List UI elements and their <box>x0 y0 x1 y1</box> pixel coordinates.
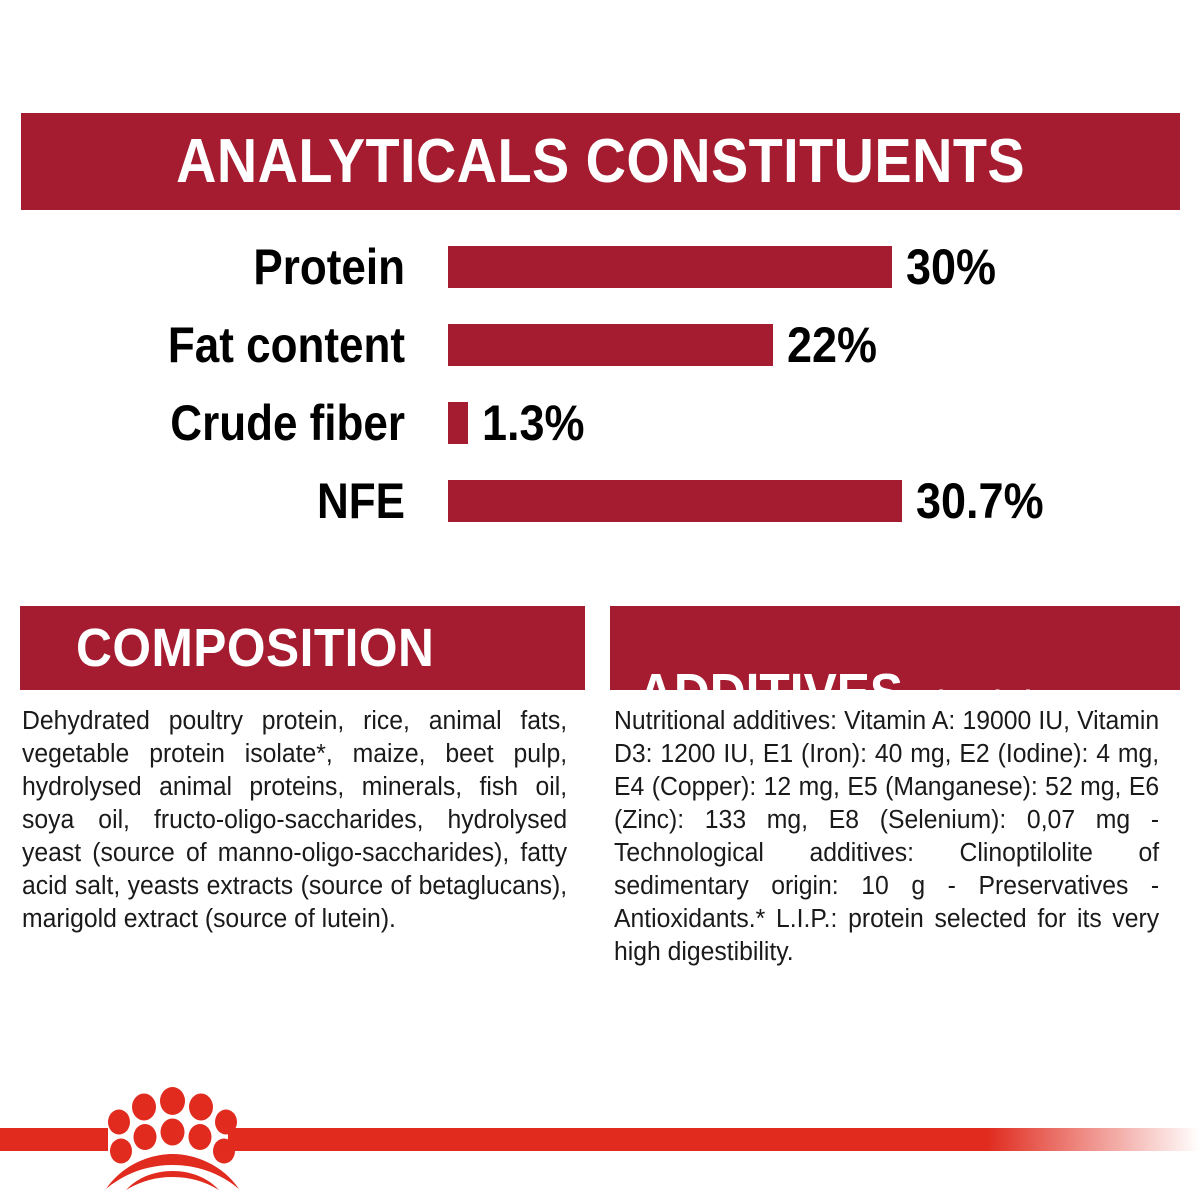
bar-row-fat-content: Fat content 22% <box>0 314 1200 376</box>
bar-fill-nfe <box>448 480 902 522</box>
bar-row-protein: Protein 30% <box>0 236 1200 298</box>
additives-title: ADDITIVES <box>638 666 903 690</box>
footer-rule-left <box>0 1128 108 1151</box>
composition-title: COMPOSITION <box>76 621 434 675</box>
bar-fill-protein <box>448 246 892 288</box>
bar-row-crude-fiber: Crude fiber 1.3% <box>0 392 1200 454</box>
bar-fill-fat-content <box>448 324 773 366</box>
additives-per-kg-label: (per kg) <box>934 687 1035 690</box>
additives-banner: ADDITIVES (per kg) <box>610 606 1180 690</box>
analyticals-constituents-title: ANALYTICALS CONSTITUENTS <box>176 131 1025 193</box>
bar-label-nfe: NFE <box>49 476 405 526</box>
composition-text: Dehydrated poultry protein, rice, animal… <box>22 705 567 936</box>
bar-value-protein: 30% <box>906 242 996 292</box>
analyticals-bar-chart: Protein 30% Fat content 22% Crude fiber … <box>0 236 1200 536</box>
bar-label-fat-content: Fat content <box>49 320 405 370</box>
bar-label-crude-fiber: Crude fiber <box>49 398 405 448</box>
nutrition-panel: ANALYTICALS CONSTITUENTS Protein 30% Fat… <box>0 0 1200 1200</box>
bar-label-protein: Protein <box>49 242 405 292</box>
royal-canin-crown-logo <box>100 1085 245 1190</box>
bar-track-fat-content: 22% <box>448 324 887 366</box>
bar-track-protein: 30% <box>448 246 1006 288</box>
bar-track-nfe: 30.7% <box>448 480 1058 522</box>
bar-track-crude-fiber: 1.3% <box>448 402 596 444</box>
bar-row-nfe: NFE 30.7% <box>0 470 1200 532</box>
composition-banner: COMPOSITION <box>20 606 585 690</box>
analyticals-constituents-banner: ANALYTICALS CONSTITUENTS <box>21 113 1180 210</box>
bar-value-nfe: 30.7% <box>916 476 1044 526</box>
footer-rule-right <box>228 1128 1200 1151</box>
bar-value-fat-content: 22% <box>787 320 877 370</box>
footer <box>0 1085 1200 1200</box>
bar-fill-crude-fiber <box>448 402 468 444</box>
bar-value-crude-fiber: 1.3% <box>482 398 585 448</box>
additives-text: Nutritional additives: Vitamin A: 19000 … <box>614 705 1159 969</box>
